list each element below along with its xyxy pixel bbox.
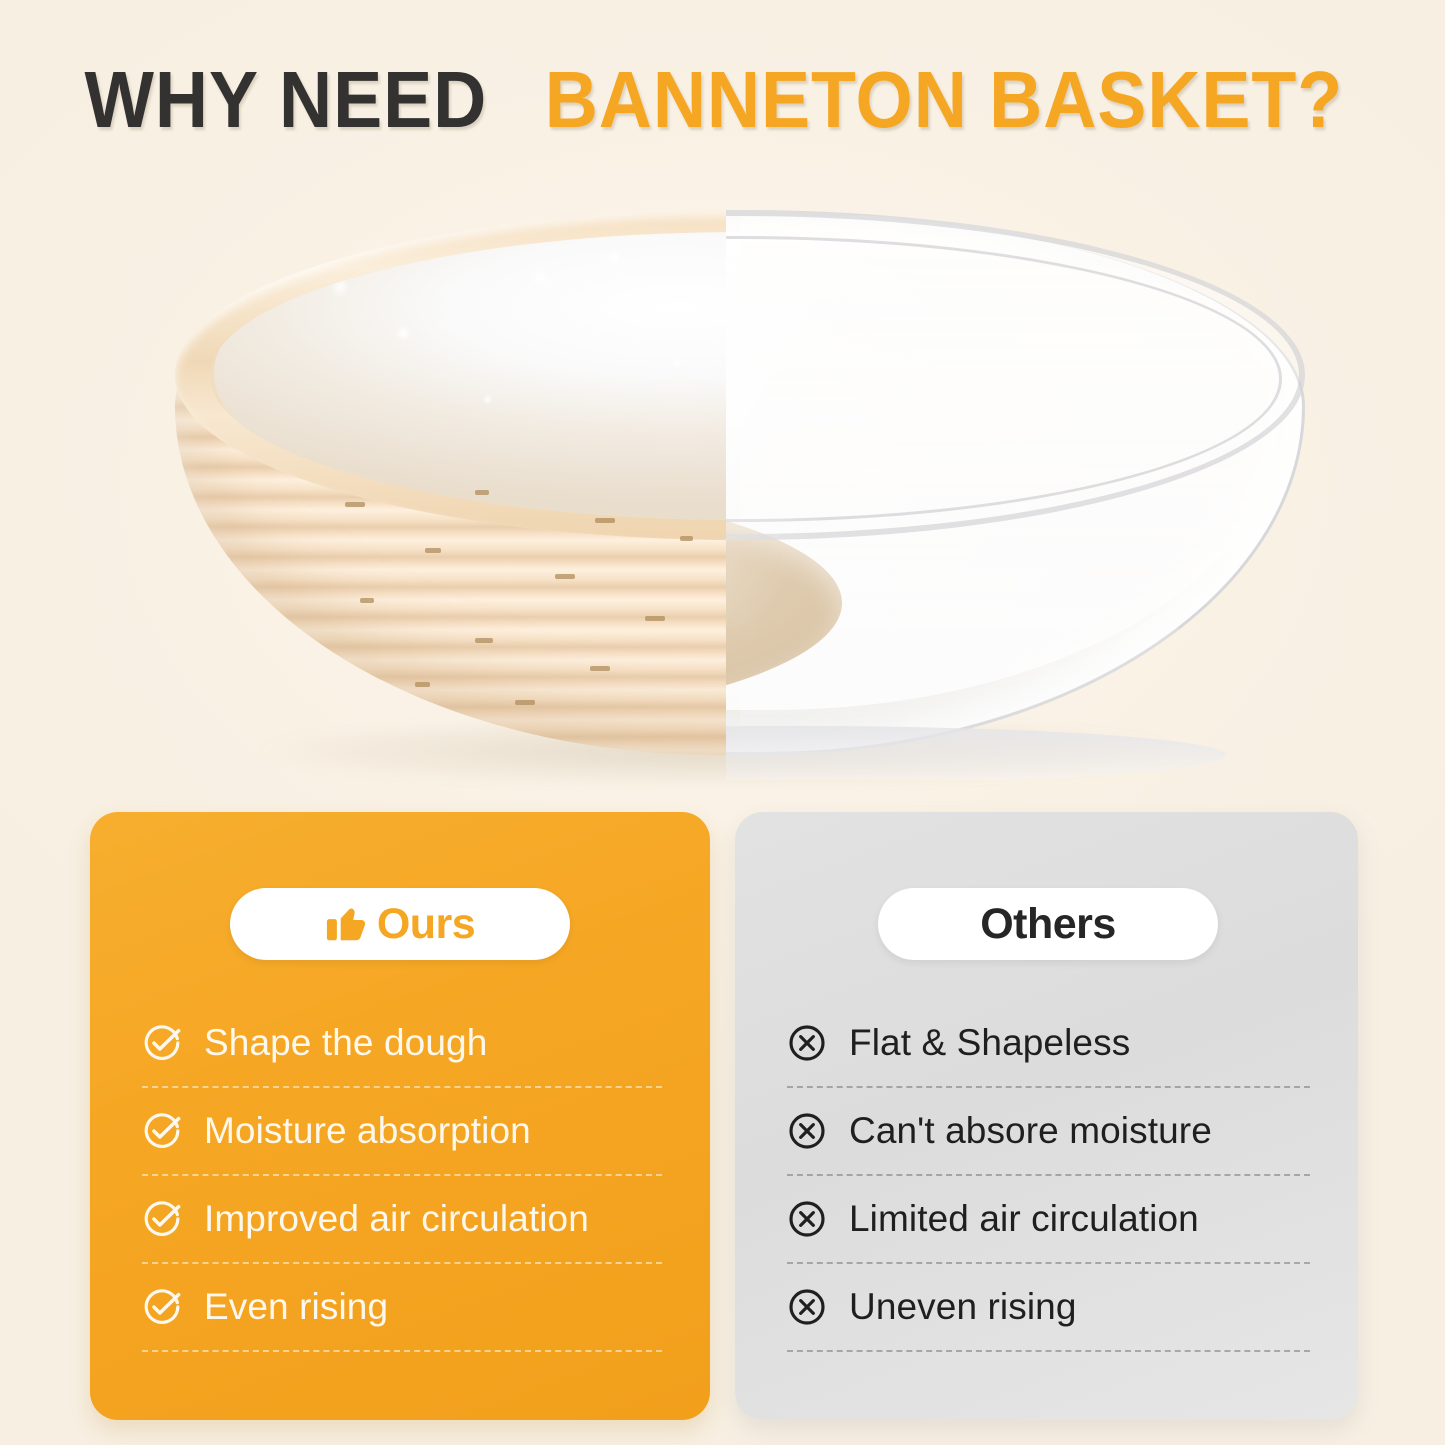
others-badge: Others	[878, 888, 1218, 960]
others-drawback-list: Flat & Shapeless Can't absore moisture	[787, 1000, 1310, 1352]
list-item: Moisture absorption	[142, 1088, 662, 1174]
list-item-label: Even rising	[204, 1286, 388, 1328]
others-panel: Others Flat & Shapeless	[735, 812, 1358, 1420]
check-circle-icon	[142, 1023, 182, 1063]
list-item-label: Shape the dough	[204, 1022, 487, 1064]
list-item: Uneven rising	[787, 1264, 1310, 1350]
page-title: WHY NEED BANNETON BASKET?	[0, 54, 1445, 146]
list-item-label: Can't absore moisture	[849, 1110, 1212, 1152]
glass-bowl-half	[726, 170, 1305, 780]
list-item: Flat & Shapeless	[787, 1000, 1310, 1086]
check-circle-icon	[142, 1111, 182, 1151]
list-item: Shape the dough	[142, 1000, 662, 1086]
ours-feature-list: Shape the dough Moisture absorption	[142, 1000, 662, 1352]
list-item: Improved air circulation	[142, 1176, 662, 1262]
x-circle-icon	[787, 1023, 827, 1063]
x-circle-icon	[787, 1111, 827, 1151]
basket-weave-holes	[175, 470, 740, 760]
infographic-page: WHY NEED BANNETON BASKET?	[0, 0, 1445, 1445]
thumbs-up-icon	[325, 902, 371, 946]
title-part-accent: BANNETON BASKET?	[544, 54, 1342, 146]
ours-badge-label: Ours	[377, 900, 475, 949]
list-item-label: Flat & Shapeless	[849, 1022, 1130, 1064]
x-circle-icon	[787, 1199, 827, 1239]
x-circle-icon	[787, 1287, 827, 1327]
list-item: Can't absore moisture	[787, 1088, 1310, 1174]
list-item-label: Improved air circulation	[204, 1198, 589, 1240]
list-separator	[142, 1350, 662, 1352]
hero-product-image	[140, 170, 1305, 780]
list-separator	[787, 1350, 1310, 1352]
ours-panel: Ours Shape the dough	[90, 812, 710, 1420]
list-item: Even rising	[142, 1264, 662, 1350]
check-circle-icon	[142, 1287, 182, 1327]
title-part-dark: WHY NEED	[85, 54, 488, 146]
banneton-basket-half	[140, 170, 740, 770]
check-circle-icon	[142, 1199, 182, 1239]
ours-badge: Ours	[230, 888, 570, 960]
glass-bowl-base	[726, 726, 1226, 780]
list-item-label: Uneven rising	[849, 1286, 1077, 1328]
list-item-label: Moisture absorption	[204, 1110, 531, 1152]
others-badge-label: Others	[980, 900, 1116, 949]
list-item-label: Limited air circulation	[849, 1198, 1199, 1240]
list-item: Limited air circulation	[787, 1176, 1310, 1262]
